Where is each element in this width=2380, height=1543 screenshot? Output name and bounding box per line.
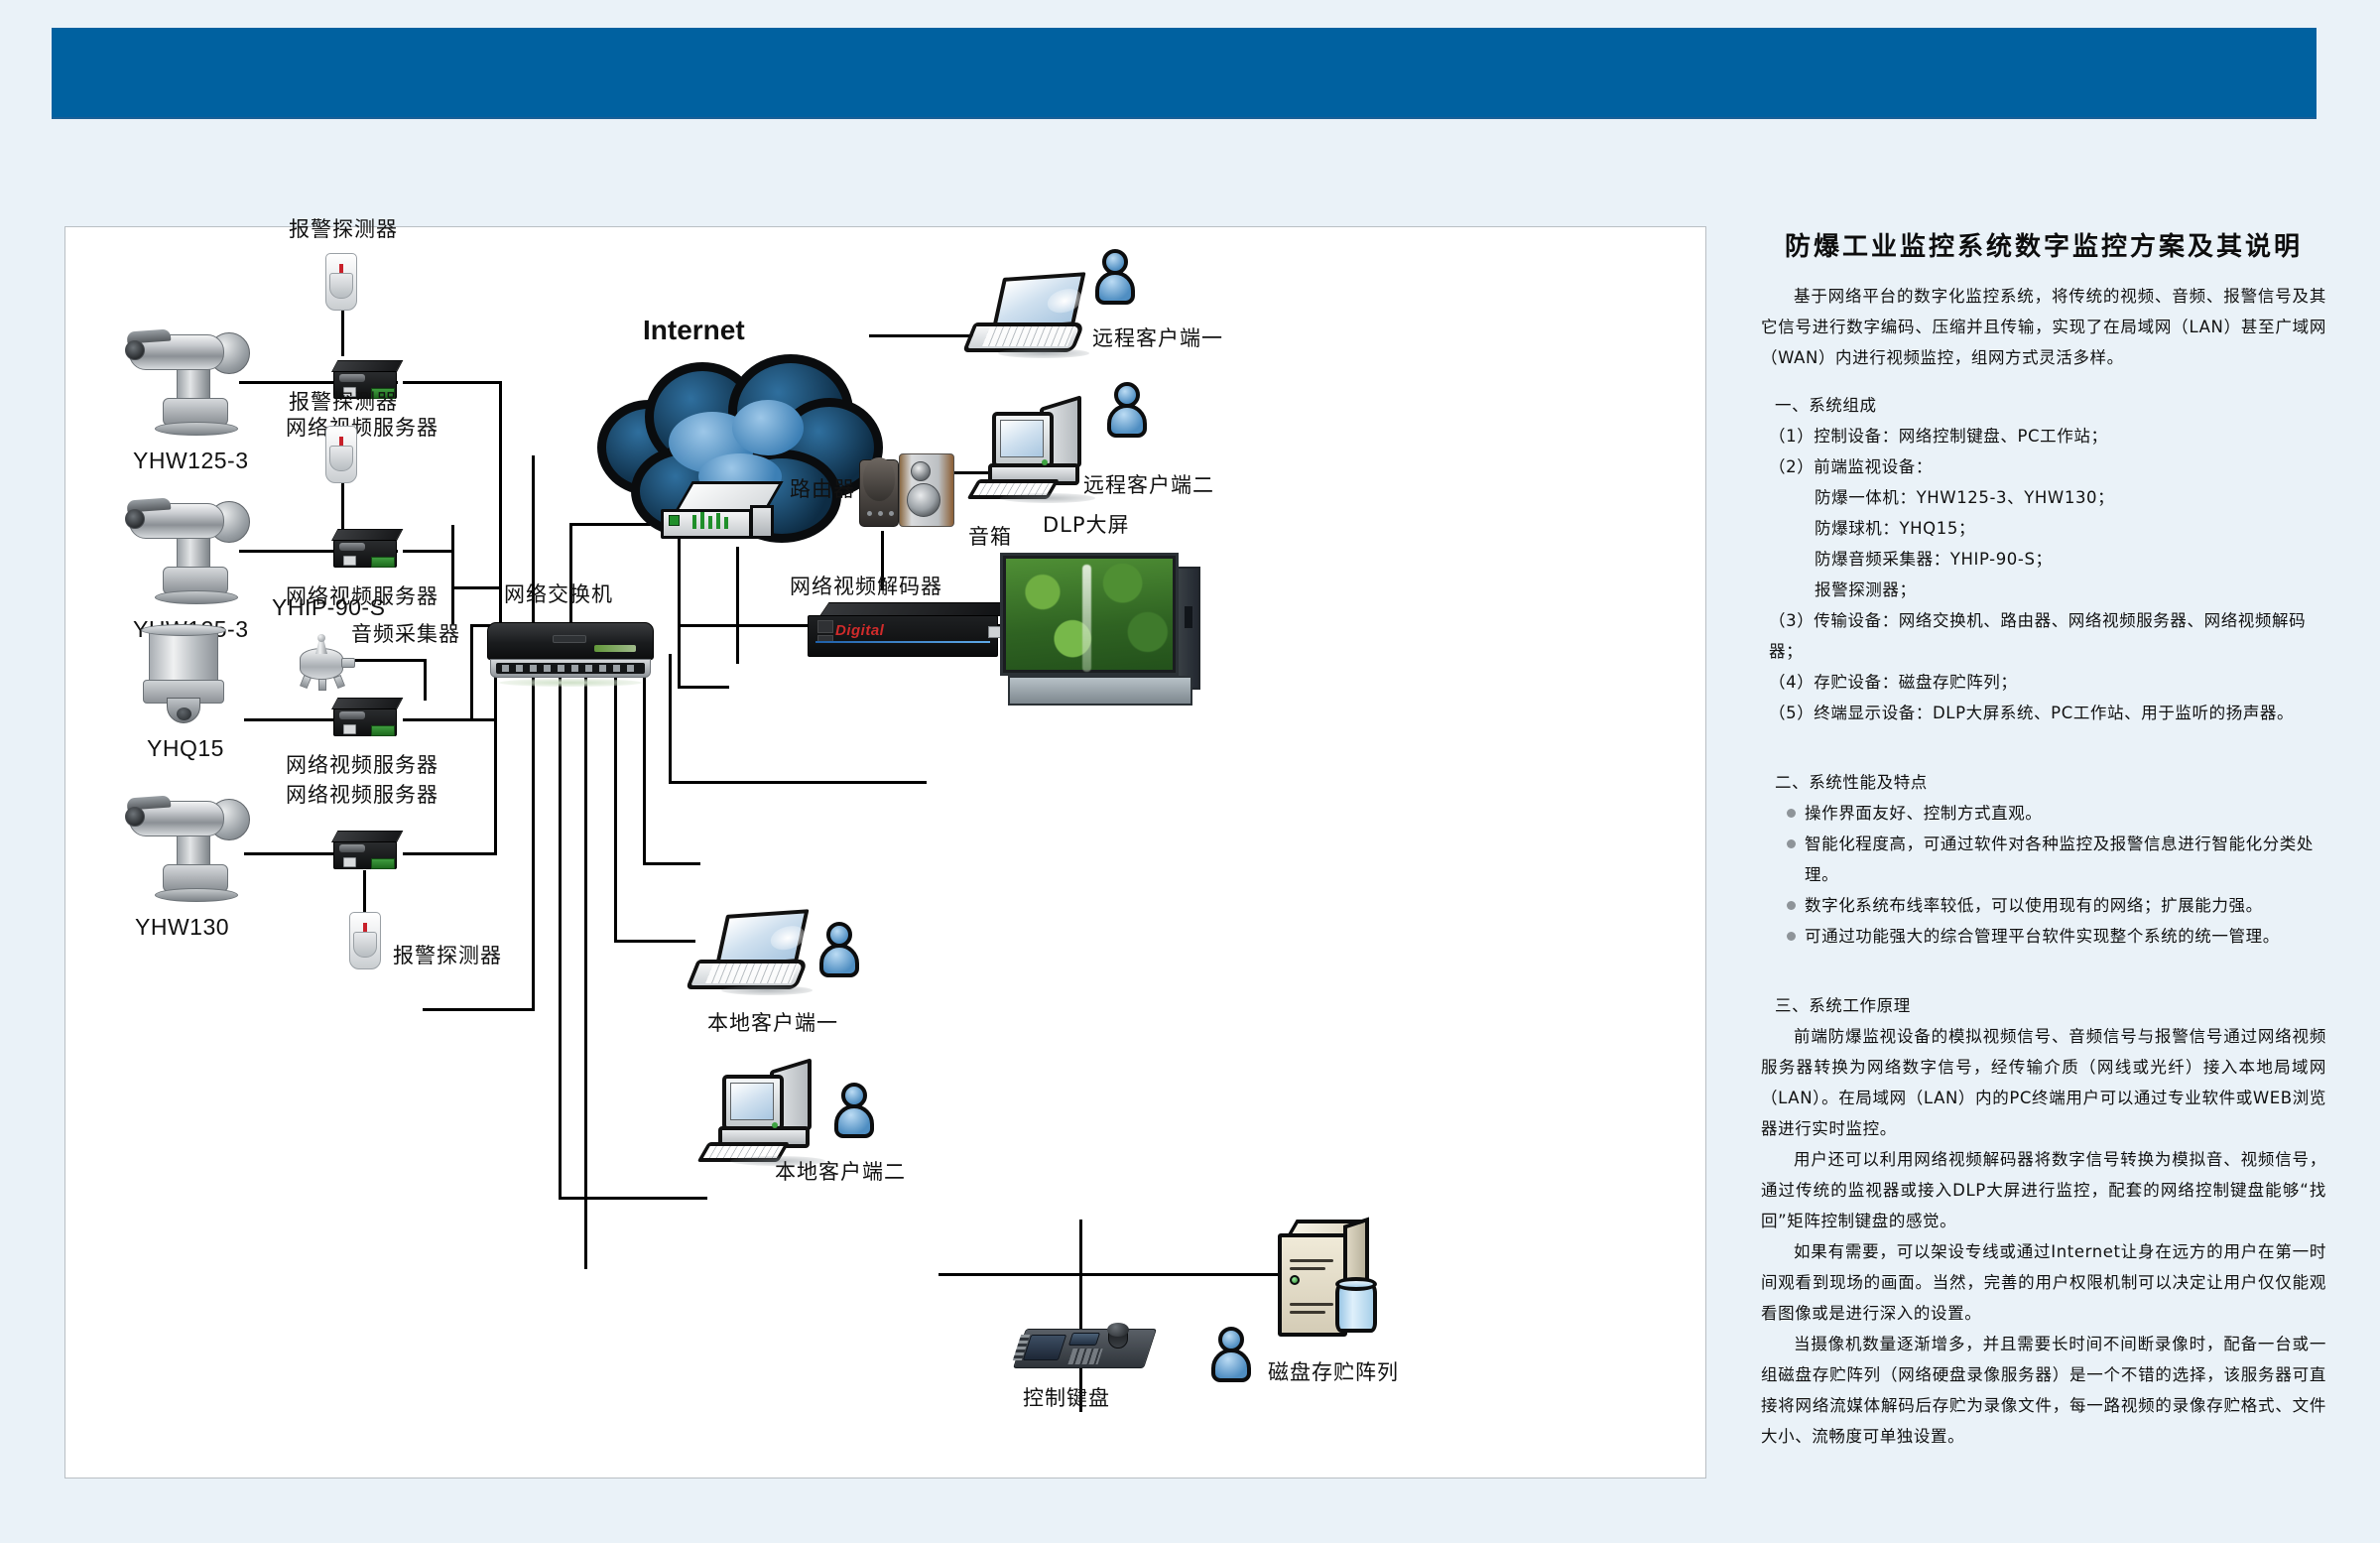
label-cam-yhw130: YHW130 — [135, 914, 229, 940]
speaker-device — [859, 453, 954, 529]
section-2-bullet-3: 数字化系统布线率较低，可以使用现有的网络；扩展能力强。 — [1761, 890, 2326, 921]
link-cloud-router — [736, 547, 739, 664]
remote-client-2-avatar — [1104, 382, 1150, 440]
network-video-server-2 — [331, 527, 405, 573]
section-3-paragraph-3: 如果有需要，可以架设专线或通过Internet让身在远方的用户在第一时间观看到现… — [1761, 1236, 2326, 1329]
switch-top-stub-b — [569, 525, 572, 624]
section-1-subitem-1: 防爆一体机：YHW125-3、YHW130； — [1761, 482, 2326, 513]
section-2-heading: 二、系统性能及特点 — [1761, 767, 2326, 798]
link-nvs1-bus-v — [499, 381, 502, 584]
section-1-subitem-3: 防爆音频采集器：YHIP-90-S； — [1761, 544, 2326, 575]
label-local-client-1: 本地客户端一 — [707, 1011, 838, 1035]
section-3-paragraph-1: 前端防爆监视设备的模拟视频信号、音频信号与报警信号通过网络视频服务器转换为网络数… — [1761, 1021, 2326, 1144]
section-2-bullet-4: 可通过功能强大的综合管理平台软件实现整个系统的统一管理。 — [1761, 921, 2326, 952]
link-alarm1-nvs1 — [341, 311, 344, 356]
section-1-item-2: （2）前端监视设备： — [1761, 451, 2326, 482]
bullet-dot-icon — [1787, 809, 1796, 818]
video-decoder-device: Digital — [808, 602, 1012, 664]
link-cloud-remote1 — [869, 334, 980, 337]
label-video-decoder: 网络视频解码器 — [790, 575, 942, 598]
switch-down-5-h — [643, 862, 700, 865]
section-2-bullet-1: 操作界面友好、控制方式直观。 — [1761, 798, 2326, 829]
storage-operator-avatar — [1208, 1327, 1254, 1384]
link-router-switch-h2 — [678, 686, 729, 689]
link-nvs3-bus-v — [470, 624, 473, 718]
bullet-dot-icon — [1787, 839, 1796, 848]
section-1-subitem-4: 报警探测器； — [1761, 575, 2326, 605]
section-1-item-1: （1）控制设备：网络控制键盘、PC工作站； — [1761, 421, 2326, 451]
label-audio-model: YHIP-90-S — [272, 594, 385, 620]
alarm-detector-icon-3 — [349, 912, 381, 969]
label-cam-yhw125-3-a: YHW125-3 — [133, 448, 248, 473]
network-switch-device — [487, 622, 654, 688]
document-title: 防爆工业监控系统数字监控方案及其说明 — [1761, 226, 2326, 263]
local-client-1-avatar — [816, 922, 862, 979]
switch-uplink-1 — [499, 584, 502, 624]
label-storage-array: 磁盘存贮阵列 — [1268, 1360, 1399, 1384]
section-3-paragraph-4: 当摄像机数量逐渐增多，并且需要长时间不间断录像时，配备一台或一组磁盘存贮阵列（网… — [1761, 1329, 2326, 1452]
bullet-dot-icon — [1787, 901, 1796, 910]
switch-down-2 — [559, 654, 562, 1200]
label-nvs-1: 网络视频服务器 — [286, 416, 438, 440]
bus-right-storage — [939, 1273, 1335, 1276]
link-nvs1-bus — [403, 381, 502, 384]
intro-paragraph: 基于网络平台的数字化监控系统，将传统的视频、音频、报警信号及其它信号进行数字编码… — [1761, 281, 2326, 373]
link-nvs2-bus-h2 — [451, 586, 501, 589]
spacer-2 — [1761, 952, 2326, 973]
description-text-column: 防爆工业监控系统数字监控方案及其说明 基于网络平台的数字化监控系统，将传统的视频… — [1761, 226, 2326, 1452]
alarm-detector-icon-1 — [325, 253, 357, 311]
dome-camera-yhq15 — [133, 624, 236, 727]
link-audio-nvs3-h — [355, 659, 427, 662]
link-nvs3-bus — [403, 718, 497, 721]
spacer-1 — [1761, 728, 2326, 750]
label-remote-client-2: 远程客户端二 — [1083, 473, 1214, 497]
audio-collector-yhip-90-s — [292, 636, 353, 692]
label-network-switch: 网络交换机 — [504, 582, 613, 606]
switch-down-1 — [532, 654, 535, 1011]
section-1-item-3: （3）传输设备：网络交换机、路由器、网络视频服务器、网络视频解码器； — [1761, 605, 2326, 667]
dlp-big-screen — [1000, 553, 1200, 713]
switch-down-3 — [584, 654, 587, 1269]
link-nvs4-bus — [403, 852, 497, 855]
label-audio-collector: 音频采集器 — [351, 622, 460, 646]
label-local-client-2: 本地客户端二 — [775, 1160, 906, 1184]
internet-label: Internet — [643, 315, 745, 346]
label-router: 路由器 — [790, 477, 855, 501]
network-video-server-4 — [331, 829, 405, 874]
section-3-heading: 三、系统工作原理 — [1761, 990, 2326, 1021]
switch-uplink-2 — [451, 525, 454, 624]
network-topology-diagram: Internet YHW125-3 报警探测器 网络视频服务器 YHW125-3… — [64, 226, 1706, 1479]
local-client-2-avatar — [831, 1083, 877, 1140]
diagram-canvas: Internet YHW125-3 报警探测器 网络视频服务器 YHW125-3… — [65, 227, 1705, 1478]
link-audio-nvs3-v — [424, 659, 427, 701]
link-nvs2-bus — [403, 550, 454, 553]
switch-down-4 — [614, 654, 617, 942]
remote-client-1-laptop — [972, 275, 1089, 356]
label-nvs-4: 网络视频服务器 — [286, 783, 438, 807]
section-2-bullet-4-text: 可通过功能强大的综合管理平台软件实现整个系统的统一管理。 — [1805, 921, 2326, 952]
label-alarm-detector-1: 报警探测器 — [289, 217, 398, 241]
section-2-bullet-2: 智能化程度高，可通过软件对各种监控及报警信息进行智能化分类处理。 — [1761, 829, 2326, 890]
remote-client-1-avatar — [1092, 249, 1138, 307]
ptz-camera-yhw125-3-a — [125, 326, 254, 438]
section-1-subitem-2: 防爆球机：YHQ15； — [1761, 513, 2326, 544]
label-dlp: DLP大屏 — [1043, 513, 1130, 537]
ptz-camera-yhw130 — [125, 793, 254, 904]
ptz-camera-yhw125-3-b — [125, 495, 254, 606]
control-keyboard-device — [1013, 1319, 1150, 1378]
switch-down-1-h — [423, 1008, 534, 1011]
section-2-bullet-1-text: 操作界面友好、控制方式直观。 — [1805, 798, 2326, 829]
label-nvs-3: 网络视频服务器 — [286, 753, 438, 777]
link-keyboard-up — [1079, 1220, 1082, 1275]
switch-down-4-h — [614, 940, 695, 943]
local-client-1-laptop — [695, 912, 813, 993]
link-alarm3-nvs4 — [363, 870, 366, 916]
decoder-brand-text: Digital — [835, 622, 884, 639]
network-video-server-3 — [331, 696, 405, 741]
bullet-dot-icon — [1787, 932, 1796, 941]
switch-down-2-h — [559, 1197, 707, 1200]
alarm-detector-icon-2 — [325, 426, 357, 483]
label-control-keyboard: 控制键盘 — [1023, 1386, 1110, 1410]
section-1-item-5: （5）终端显示设备：DLP大屏系统、PC工作站、用于监听的扬声器。 — [1761, 698, 2326, 728]
disk-storage-array-device — [1278, 1220, 1389, 1341]
link-switch-decoder — [681, 624, 810, 627]
section-1-item-4: （4）存贮设备：磁盘存贮阵列； — [1761, 667, 2326, 698]
link-alarm2-nvs2 — [341, 483, 344, 529]
section-2-bullet-3-text: 数字化系统布线率较低，可以使用现有的网络；扩展能力强。 — [1805, 890, 2326, 921]
label-alarm-detector-3: 报警探测器 — [393, 944, 502, 967]
label-remote-client-1: 远程客户端一 — [1092, 326, 1223, 350]
router-device — [659, 481, 778, 551]
local-client-2-pc — [708, 1071, 835, 1166]
label-cam-yhq15: YHQ15 — [147, 735, 224, 761]
section-1-heading: 一、系统组成 — [1761, 390, 2326, 421]
label-alarm-detector-2: 报警探测器 — [289, 390, 398, 414]
switch-down-6 — [669, 654, 672, 783]
label-speaker: 音箱 — [968, 525, 1012, 549]
switch-down-6-h — [669, 781, 927, 784]
section-3-paragraph-2: 用户还可以利用网络视频解码器将数字信号转换为模拟音、视频信号，通过传统的监视器或… — [1761, 1144, 2326, 1236]
section-2-bullet-2-text: 智能化程度高，可通过软件对各种监控及报警信息进行智能化分类处理。 — [1805, 829, 2326, 890]
top-banner-bar — [52, 28, 2317, 119]
